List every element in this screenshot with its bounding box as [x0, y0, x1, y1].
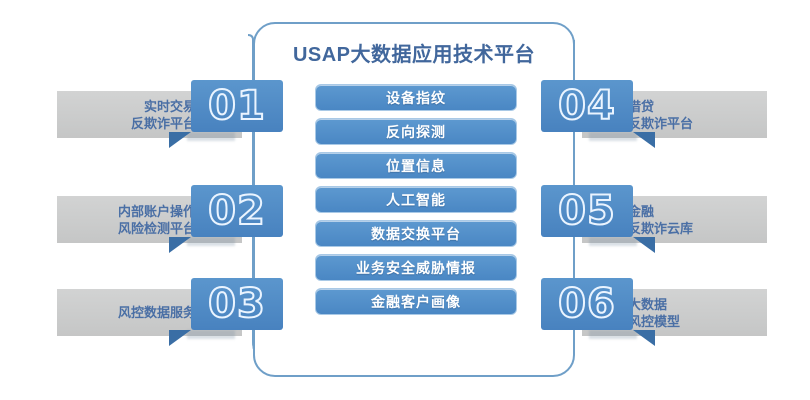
- ribbon-fold-icon: [169, 330, 191, 346]
- ribbon-fold-icon: [633, 132, 655, 148]
- ribbon-number: 04: [558, 86, 616, 126]
- ribbon-shadow: [589, 132, 637, 141]
- right-group-05[interactable]: 金融 反欺诈云库 05: [537, 185, 767, 243]
- band-line: 内部账户操作: [118, 203, 196, 220]
- ribbon-shadow: [187, 330, 235, 339]
- ribbon-shadow: [589, 237, 637, 246]
- center-item[interactable]: 位置信息: [315, 152, 517, 179]
- center-item-list: 设备指纹 反向探测 位置信息 人工智能 数据交换平台 业务安全威胁情报 金融客户…: [315, 84, 517, 322]
- ribbon-number: 02: [208, 191, 266, 231]
- ribbon-fold-icon: [633, 330, 655, 346]
- ribbon-shadow: [187, 132, 235, 141]
- ribbon-number: 05: [558, 191, 616, 231]
- band-line: 风险检测平台: [118, 220, 196, 237]
- band-line: 实时交易: [144, 98, 196, 115]
- ribbon-number: 01: [208, 86, 266, 126]
- ribbon-body: 04: [541, 80, 633, 132]
- ribbon-number: 06: [558, 284, 616, 324]
- center-item[interactable]: 金融客户画像: [315, 288, 517, 315]
- band-line: 风控模型: [628, 313, 680, 330]
- band-line: 风控数据服务: [118, 304, 196, 321]
- left-group-02[interactable]: 内部账户操作 风险检测平台 02: [57, 185, 287, 243]
- ribbon-number: 03: [208, 284, 266, 324]
- right-group-06[interactable]: 大数据 风控模型 06: [537, 278, 767, 336]
- left-group-03[interactable]: 风控数据服务 03: [57, 278, 287, 336]
- center-item[interactable]: 数据交换平台: [315, 220, 517, 247]
- center-panel: USAP大数据应用技术平台 设备指纹 反向探测 位置信息 人工智能 数据交换平台…: [253, 22, 575, 377]
- band-line: 反欺诈平台: [628, 115, 693, 132]
- left-ribbon-02[interactable]: 02: [191, 185, 283, 237]
- ribbon-fold-icon: [633, 237, 655, 253]
- ribbon-body: 02: [191, 185, 283, 237]
- ribbon-body: 06: [541, 278, 633, 330]
- center-item[interactable]: 设备指纹: [315, 84, 517, 111]
- right-group-04[interactable]: 借贷 反欺诈平台 04: [537, 80, 767, 138]
- left-group-01[interactable]: 实时交易 反欺诈平台 01: [57, 80, 287, 138]
- ribbon-shadow: [589, 330, 637, 339]
- page-title: USAP大数据应用技术平台: [255, 38, 573, 67]
- left-ribbon-03[interactable]: 03: [191, 278, 283, 330]
- ribbon-shadow: [187, 237, 235, 246]
- ribbon-body: 05: [541, 185, 633, 237]
- band-line: 大数据: [628, 296, 667, 313]
- center-item[interactable]: 人工智能: [315, 186, 517, 213]
- ribbon-body: 01: [191, 80, 283, 132]
- right-ribbon-06[interactable]: 06: [541, 278, 633, 330]
- band-line: 反欺诈云库: [628, 220, 693, 237]
- center-item[interactable]: 反向探测: [315, 118, 517, 145]
- ribbon-fold-icon: [169, 132, 191, 148]
- band-line: 反欺诈平台: [131, 115, 196, 132]
- ribbon-body: 03: [191, 278, 283, 330]
- diagram-canvas: USAP大数据应用技术平台 设备指纹 反向探测 位置信息 人工智能 数据交换平台…: [0, 0, 810, 400]
- left-ribbon-01[interactable]: 01: [191, 80, 283, 132]
- right-ribbon-04[interactable]: 04: [541, 80, 633, 132]
- right-ribbon-05[interactable]: 05: [541, 185, 633, 237]
- ribbon-fold-icon: [169, 237, 191, 253]
- center-item[interactable]: 业务安全威胁情报: [315, 254, 517, 281]
